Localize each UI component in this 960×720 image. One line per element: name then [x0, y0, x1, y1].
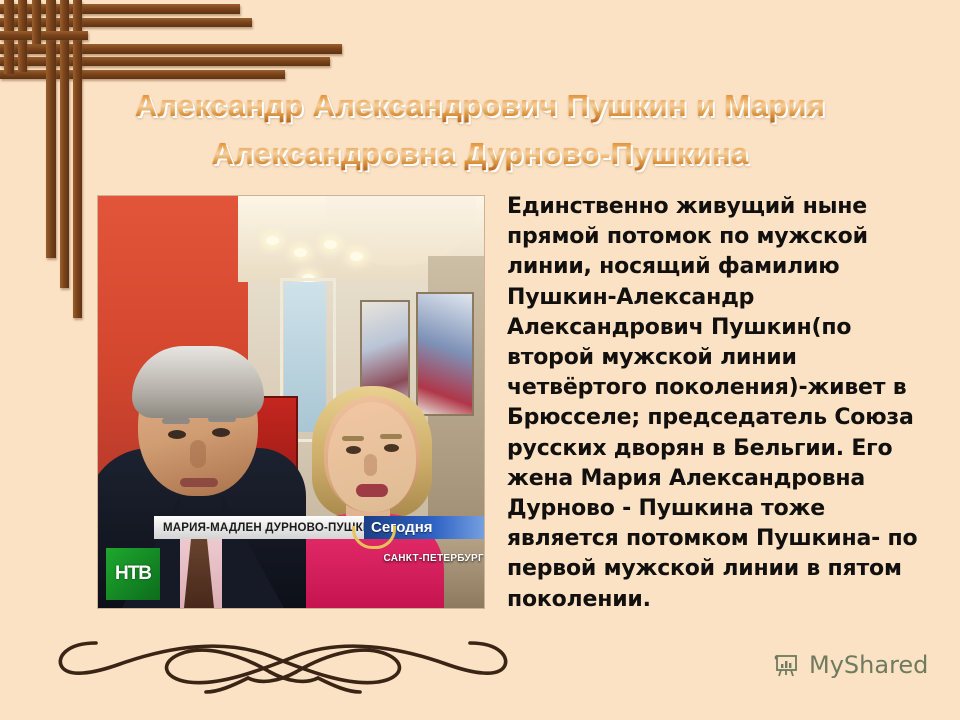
broadcast-caption-city: САНКТ-ПЕТЕРБУРГ: [360, 548, 484, 566]
photo-woman-mouth: [356, 484, 388, 497]
photo-man-eyebrow: [162, 418, 190, 424]
photo-artwork: [416, 292, 474, 416]
photo-man-eye: [212, 428, 230, 437]
myshared-watermark: MyShared: [772, 650, 928, 680]
ntv-channel-logo-icon: НТВ: [106, 548, 160, 600]
photo-woman-eye: [346, 446, 361, 454]
photo-man-hair: [132, 346, 264, 418]
photo-man-nose: [190, 440, 206, 468]
slide-title-line-2: Александровна Дурново-Пушкина: [0, 136, 960, 172]
calligraphic-flourish-icon: [48, 620, 518, 700]
photo-man-mouth: [180, 478, 218, 487]
photo-woman-eye: [384, 444, 399, 452]
presentation-board-icon: [772, 650, 802, 680]
photo-ceiling-lamp: [266, 236, 279, 245]
photo-man-eyebrow: [208, 416, 236, 422]
photo-man-eye: [168, 430, 186, 439]
photo-ceiling-lamp: [350, 252, 363, 261]
title-text-line-1: Александр Александрович Пушкин и Мария: [135, 88, 826, 123]
caption-city-text: САНКТ-ПЕТЕРБУРГ: [383, 553, 484, 564]
slide-title-line-1: Александр Александрович Пушкин и Мария: [0, 88, 960, 124]
title-text-line-2: Александровна Дурново-Пушкина: [211, 136, 748, 171]
slide-canvas: Александр Александрович Пушкин и Мария А…: [0, 0, 960, 720]
photo-ceiling-lamp: [294, 248, 307, 257]
ntv-logo-text: НТВ: [115, 563, 151, 585]
photo-ceiling-lamp: [324, 240, 337, 249]
photo-woman-nose: [364, 454, 377, 476]
body-paragraph: Единственно живущий ныне прямой потомок …: [507, 192, 927, 615]
photo-pushkin-couple: НТВ МАРИЯ-МАДЛЕН ДУРНОВО-ПУШКИНА Сегодня…: [98, 196, 484, 608]
photo-woman-eyebrow: [380, 434, 402, 439]
myshared-watermark-label: MyShared: [809, 651, 928, 679]
photo-woman-eyebrow: [342, 436, 364, 441]
